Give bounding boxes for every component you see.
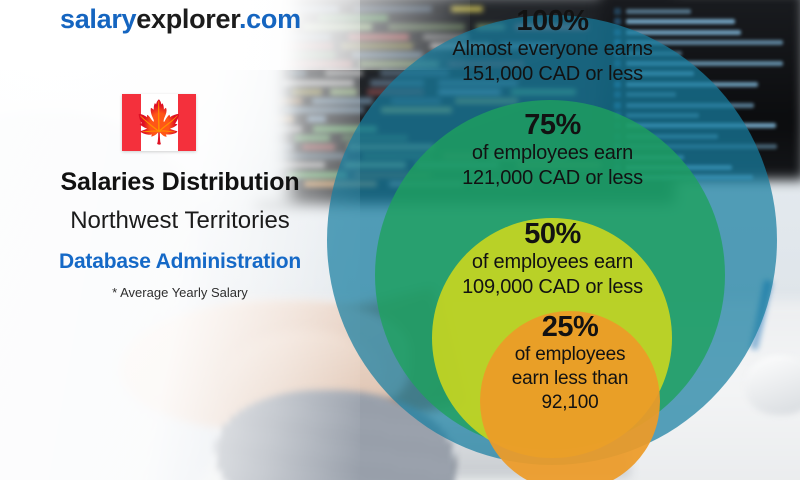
- percent-75: 75%: [420, 110, 685, 141]
- desc-100-line2: 151,000 CAD or less: [380, 62, 725, 88]
- desc-25-line3: 92,100: [477, 391, 663, 415]
- footnote: * Average Yearly Salary: [0, 285, 360, 300]
- label-percentile-75: 75% of employees earn 121,000 CAD or les…: [420, 110, 685, 192]
- percent-25: 25%: [477, 312, 663, 343]
- logo-part-tld: .com: [239, 4, 301, 34]
- desc-75-line2: 121,000 CAD or less: [420, 166, 685, 192]
- desc-50-line1: of employees earn: [435, 250, 670, 276]
- infographic-canvas: salaryexplorer.com 🍁 Salaries Distributi…: [0, 0, 800, 480]
- percent-100: 100%: [380, 6, 725, 37]
- site-logo[interactable]: salaryexplorer.com: [60, 4, 301, 35]
- job-title: Database Administration: [0, 250, 360, 274]
- desc-25-line1: of employees: [477, 343, 663, 367]
- page-title: Salaries Distribution: [0, 168, 360, 197]
- region-subtitle: Northwest Territories: [0, 207, 360, 235]
- background-mouse: [745, 355, 800, 415]
- desc-75-line1: of employees earn: [420, 141, 685, 167]
- logo-part-salary: salary: [60, 4, 136, 34]
- desc-100-line1: Almost everyone earns: [380, 37, 725, 63]
- desc-25-line2: earn less than: [477, 367, 663, 391]
- desc-50-line2: 109,000 CAD or less: [435, 275, 670, 301]
- canada-flag-icon: 🍁: [122, 94, 196, 151]
- logo-part-explorer: explorer: [136, 4, 239, 34]
- maple-leaf-icon: 🍁: [122, 100, 196, 145]
- label-percentile-100: 100% Almost everyone earns 151,000 CAD o…: [380, 6, 725, 88]
- percent-50: 50%: [435, 219, 670, 250]
- label-percentile-50: 50% of employees earn 109,000 CAD or les…: [435, 219, 670, 301]
- label-percentile-25: 25% of employees earn less than 92,100: [477, 312, 663, 416]
